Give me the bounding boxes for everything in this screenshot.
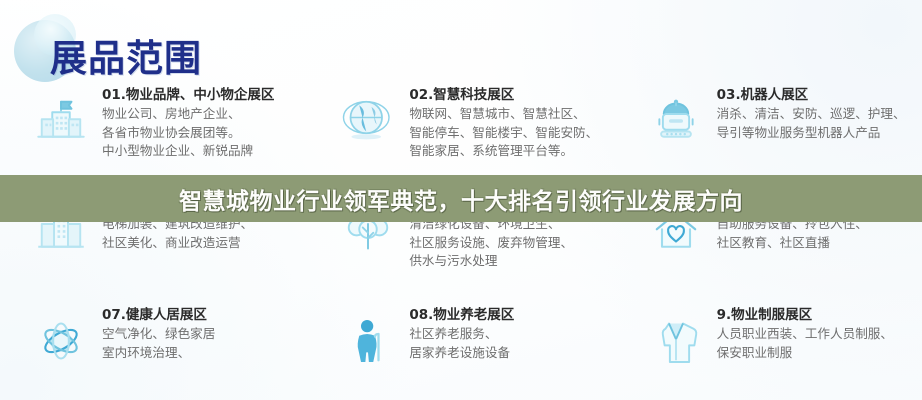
- robot-icon: [645, 90, 707, 152]
- card-line: 社区教育、社区直播: [717, 234, 922, 253]
- card-line: 居家养老设施设备: [409, 344, 614, 363]
- globe-icon: [337, 90, 399, 152]
- card-line: 各省市物业协会展团等。: [102, 124, 307, 143]
- card-line: 中小型物业企业、新锐品牌: [102, 142, 307, 161]
- card-title: 02.智慧科技展区: [409, 86, 614, 104]
- card-body: 01.物业品牌、中小物企展区 物业公司、房地产企业、 各省市物业协会展团等。 中…: [102, 84, 307, 161]
- card-line: 社区服务设施、废弃物管理、: [409, 234, 614, 253]
- card-line: 供水与污水处理: [409, 252, 614, 271]
- card-line: 空气净化、绿色家居: [102, 325, 307, 344]
- card-line: 智能停车、智能楼宇、智能安防、: [409, 124, 614, 143]
- poster-header: 展品范围: [14, 12, 244, 76]
- card-title: 07.健康人居展区: [102, 306, 307, 324]
- card-body: 03.机器人展区 消杀、清洁、安防、巡逻、护理、 导引等物业服务型机器人产品: [717, 84, 922, 142]
- exhibition-card-09[interactable]: 9.物业制服展区 人员职业西装、工作人员制服、 保安职业制服: [615, 298, 922, 393]
- card-title: 03.机器人展区: [717, 86, 922, 104]
- card-line: 社区养老服务、: [409, 325, 614, 344]
- card-body: 9.物业制服展区 人员职业西装、工作人员制服、 保安职业制服: [717, 304, 922, 362]
- overlay-banner-text: 智慧城物业行业领军典范，十大排名引领行业发展方向: [179, 182, 743, 216]
- overlay-banner: 智慧城物业行业领军典范，十大排名引领行业发展方向: [0, 175, 922, 222]
- exhibition-card-08[interactable]: 08.物业养老展区 社区养老服务、 居家养老设施设备: [307, 298, 614, 393]
- card-line: 物联网、智慧城市、智慧社区、: [409, 105, 614, 124]
- card-title: 9.物业制服展区: [717, 306, 922, 324]
- card-line: 物业公司、房地产企业、: [102, 105, 307, 124]
- card-line: 保安职业制服: [717, 344, 922, 363]
- card-line: 消杀、清洁、安防、巡逻、护理、: [717, 105, 922, 124]
- elderly-person-icon: [337, 310, 399, 372]
- page-title: 展品范围: [50, 28, 202, 82]
- atom-icon: [30, 310, 92, 372]
- card-body: 02.智慧科技展区 物联网、智慧城市、智慧社区、 智能停车、智能楼宇、智能安防、…: [409, 84, 614, 161]
- card-line: 导引等物业服务型机器人产品: [717, 124, 922, 143]
- exhibition-card-02[interactable]: 02.智慧科技展区 物联网、智慧城市、智慧社区、 智能停车、智能楼宇、智能安防、…: [307, 78, 614, 188]
- card-body: 07.健康人居展区 空气净化、绿色家居 室内环境治理、: [102, 304, 307, 362]
- card-line: 社区美化、商业改造运营: [102, 234, 307, 253]
- exhibition-card-03[interactable]: 03.机器人展区 消杀、清洁、安防、巡逻、护理、 导引等物业服务型机器人产品: [615, 78, 922, 188]
- card-line: 智能家居、系统管理平台等。: [409, 142, 614, 161]
- card-title: 01.物业品牌、中小物企展区: [102, 86, 307, 104]
- uniform-shirt-icon: [645, 310, 707, 372]
- exhibition-card-07[interactable]: 07.健康人居展区 空气净化、绿色家居 室内环境治理、: [0, 298, 307, 393]
- building-flag-icon: [30, 90, 92, 152]
- card-line: 人员职业西装、工作人员制服、: [717, 325, 922, 344]
- card-body: 08.物业养老展区 社区养老服务、 居家养老设施设备: [409, 304, 614, 362]
- card-line: 室内环境治理、: [102, 344, 307, 363]
- exhibition-zone-grid: 01.物业品牌、中小物企展区 物业公司、房地产企业、 各省市物业协会展团等。 中…: [0, 78, 922, 393]
- exhibition-card-01[interactable]: 01.物业品牌、中小物企展区 物业公司、房地产企业、 各省市物业协会展团等。 中…: [0, 78, 307, 188]
- card-title: 08.物业养老展区: [409, 306, 614, 324]
- exhibition-scope-poster: 展品范围: [0, 0, 922, 400]
